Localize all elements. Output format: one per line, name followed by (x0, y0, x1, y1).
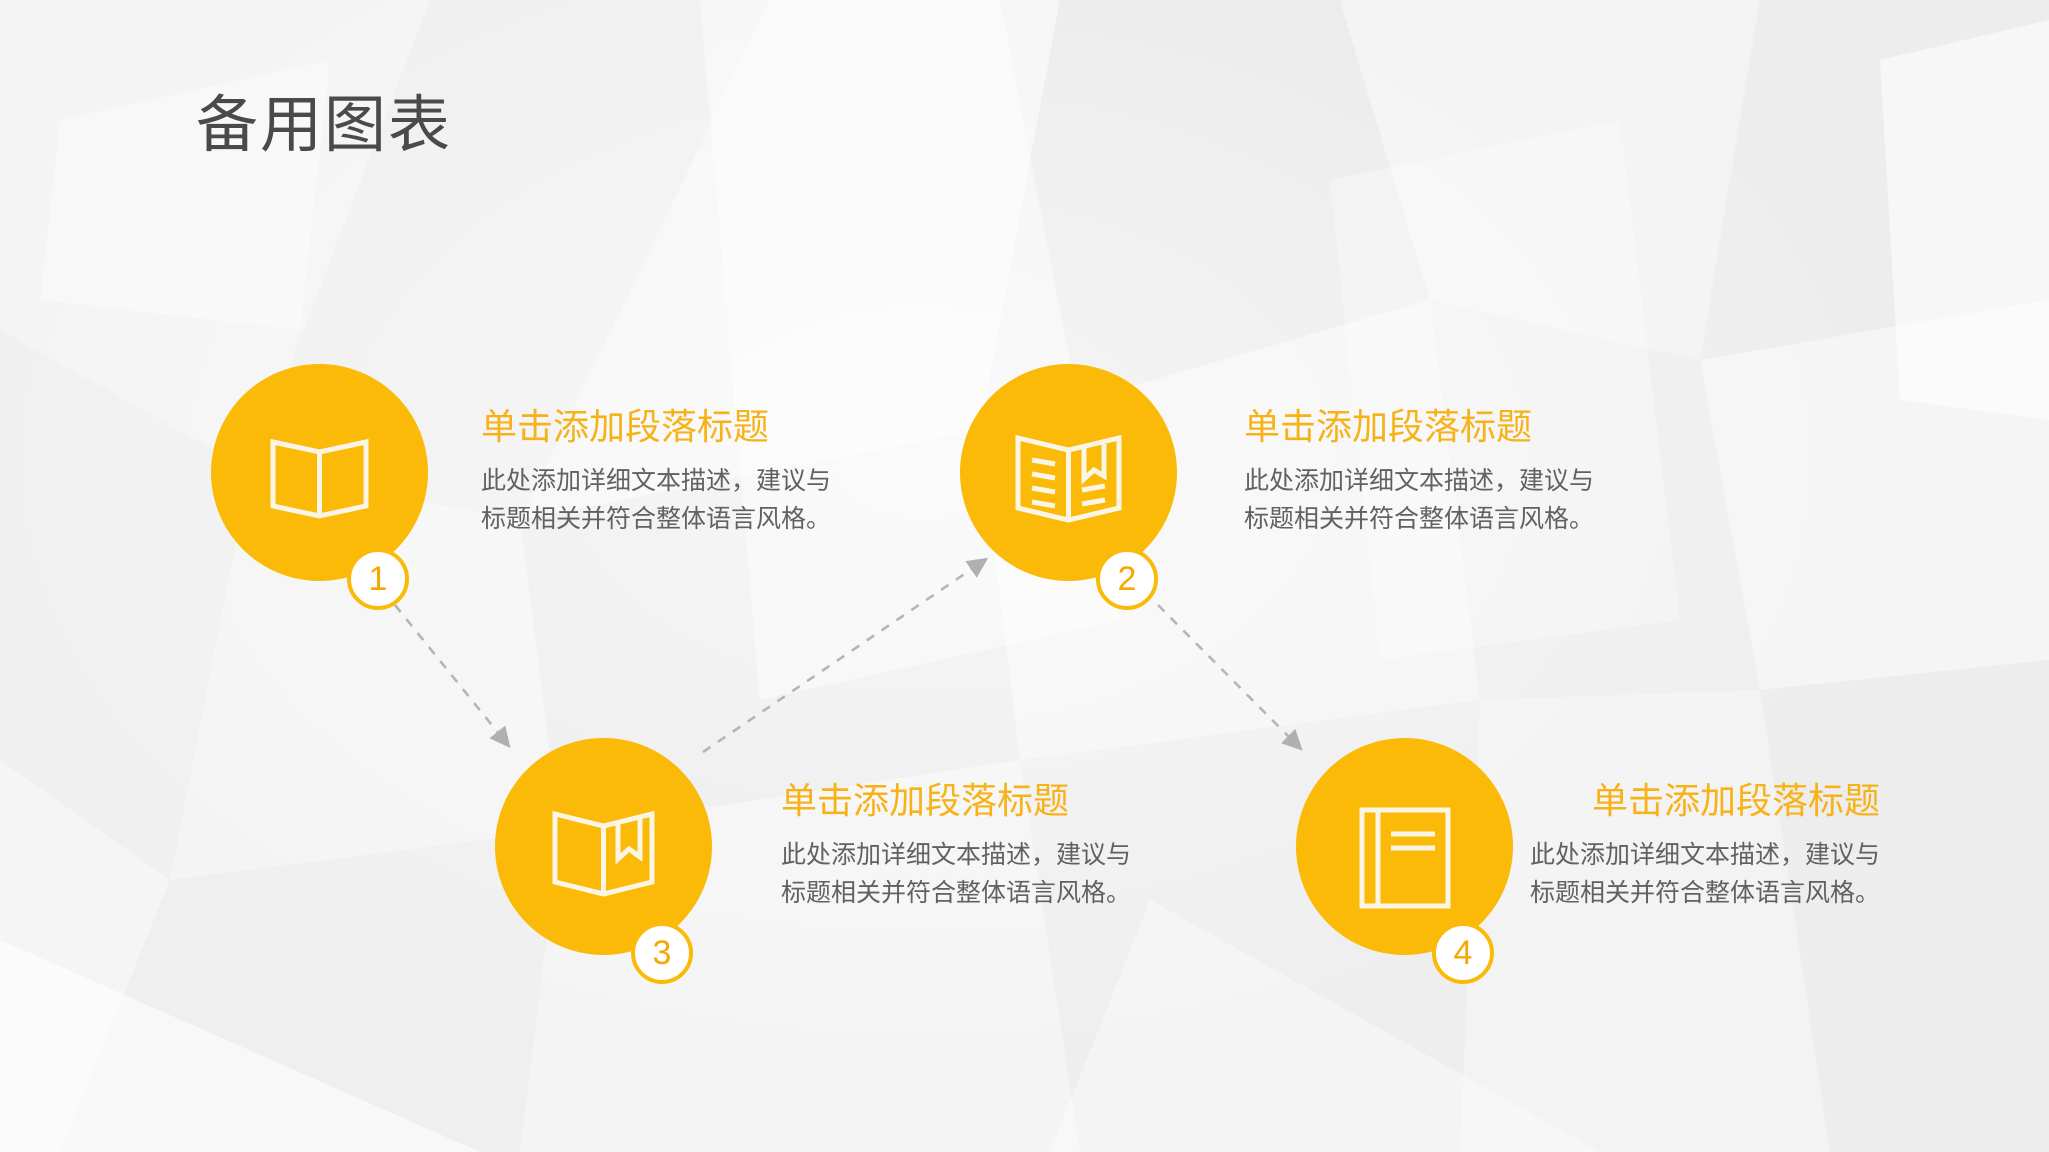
node-2-badge[interactable]: 2 (1096, 548, 1158, 610)
slide-canvas: 备用图表 1 单击添加段落标题 此处添加详细文本描述，建议与 标题相关并符合 (0, 0, 2049, 1152)
node-3-badge[interactable]: 3 (631, 922, 693, 984)
open-book-bookmark-icon (495, 738, 712, 955)
open-book-bookmark-lines-icon (960, 364, 1177, 581)
node-2-textblock: 单击添加段落标题 此处添加详细文本描述，建议与 标题相关并符合整体语言风格。 (1244, 405, 1664, 538)
node-4-body: 此处添加详细文本描述，建议与 标题相关并符合整体语言风格。 (1140, 836, 1880, 912)
node-3-circle[interactable] (495, 738, 712, 955)
node-4-badge[interactable]: 4 (1432, 922, 1494, 984)
node-1-body: 此处添加详细文本描述，建议与 标题相关并符合整体语言风格。 (481, 462, 901, 538)
node-2-body: 此处添加详细文本描述，建议与 标题相关并符合整体语言风格。 (1244, 462, 1664, 538)
node-3-textblock: 单击添加段落标题 此处添加详细文本描述，建议与 标题相关并符合整体语言风格。 (781, 779, 1201, 912)
node-1-badge[interactable]: 1 (347, 548, 409, 610)
node-4-number: 4 (1454, 936, 1473, 970)
node-2-heading: 单击添加段落标题 (1244, 405, 1664, 448)
connector-2-to-4 (1158, 605, 1300, 748)
node-1-circle[interactable] (211, 364, 428, 581)
node-4-textblock: 单击添加段落标题 此处添加详细文本描述，建议与 标题相关并符合整体语言风格。 (1140, 779, 1880, 912)
connector-3-to-2 (703, 560, 985, 752)
node-4-heading: 单击添加段落标题 (1140, 779, 1880, 822)
node-3-heading: 单击添加段落标题 (781, 779, 1201, 822)
node-1-number: 1 (369, 562, 388, 596)
connector-1-to-3 (395, 605, 508, 745)
node-3-number: 3 (653, 936, 672, 970)
node-2-number: 2 (1118, 562, 1137, 596)
node-3-body: 此处添加详细文本描述，建议与 标题相关并符合整体语言风格。 (781, 836, 1201, 912)
node-2-circle[interactable] (960, 364, 1177, 581)
node-1-textblock: 单击添加段落标题 此处添加详细文本描述，建议与 标题相关并符合整体语言风格。 (481, 405, 901, 538)
open-book-icon (211, 364, 428, 581)
page-title: 备用图表 (196, 92, 452, 160)
node-1-heading: 单击添加段落标题 (481, 405, 901, 448)
